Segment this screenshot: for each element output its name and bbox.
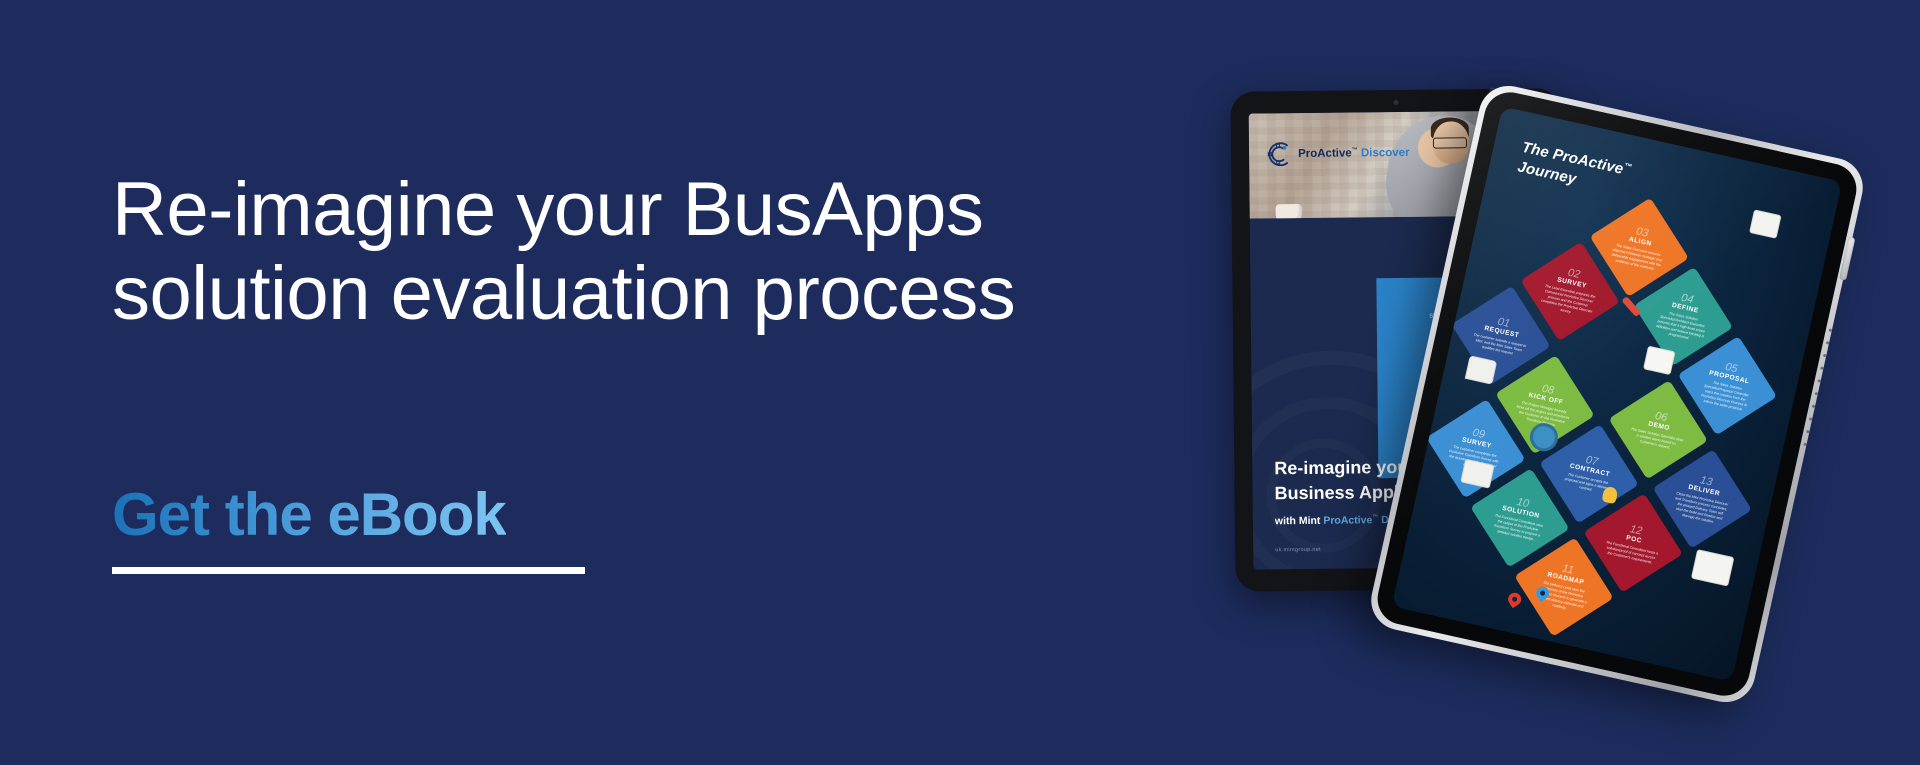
checklist-sticker-icon [1643,346,1676,375]
journey-step-content: 12POCThe Functional Consultant hosts a s… [1597,518,1669,567]
journey-step-content: 06DEMOThe Sales Solution Specialist does… [1622,405,1694,454]
speech-bubble-help-icon [1465,355,1498,384]
journey-step-content: 10SOLUTIONThe Functional Consultant uses… [1483,491,1556,545]
cta-block: Get the eBook [112,485,585,574]
journey-step-content: 05PROPOSALThe Sales Solution Specialist/… [1690,356,1764,415]
presentation-chart-icon [1691,549,1735,587]
promo-banner: Re-imagine your BusApps solution evaluat… [0,0,1920,765]
page-title: Re-imagine your BusApps solution evaluat… [112,168,1162,335]
map-pin-red-icon [1506,591,1523,611]
journey-step-content: 01REQUESTThe customer submits a request … [1465,311,1537,360]
journey-title: The ProActive™Journey [1515,138,1633,202]
cover-url: uk.mintgroup.net [1275,547,1321,553]
coffee-cup-icon [1276,204,1302,219]
circuit-c-icon [1263,139,1293,169]
get-the-ebook-link[interactable]: Get the eBook [112,485,506,545]
glasses-icon [1433,137,1467,148]
front-camera-icon [1393,100,1398,105]
journey-step-content: 04DEFINEThe Sales Solution Specialist/Ar… [1646,287,1720,346]
journey-step-content: 03ALIGNThe Sales Executive ensures align… [1603,220,1676,274]
trademark-symbol: ™ [1623,161,1633,172]
cta-underline [112,567,585,574]
journey-step-content: 02SURVEYThe Lead Executive prepares the … [1533,262,1607,321]
chart-sticker-icon [1749,209,1782,238]
journey-step-content: 13DELIVERClose the Mint ProActive Discov… [1665,469,1739,528]
device-mockups: ProActive™ Discover "Imagine being able … [1215,60,1920,700]
logo-wordmark: ProActive™ Discover [1298,147,1410,160]
proactive-discover-logo: ProActive™ Discover [1263,138,1410,170]
headline-block: Re-imagine your BusApps solution evaluat… [112,168,1162,335]
